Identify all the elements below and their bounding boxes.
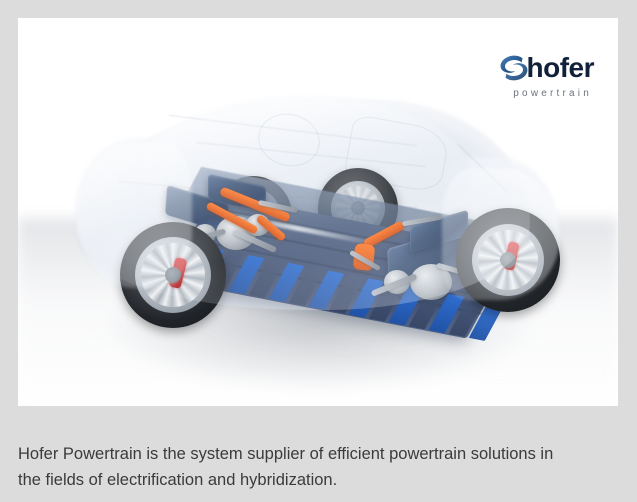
page-root: hofer powertrain Hofer Powertrain is the… bbox=[0, 0, 637, 502]
rear-wheel bbox=[120, 222, 226, 328]
figure-caption: Hofer Powertrain is the system supplier … bbox=[18, 441, 578, 493]
hofer-swirl-mark-icon bbox=[497, 52, 531, 84]
powertrain-illustration: hofer powertrain bbox=[18, 18, 618, 406]
hofer-powertrain-logo: hofer powertrain bbox=[454, 50, 594, 108]
front-wheel bbox=[456, 208, 560, 312]
logo-wordmark: hofer bbox=[527, 52, 595, 84]
logo-tagline: powertrain bbox=[513, 88, 592, 99]
